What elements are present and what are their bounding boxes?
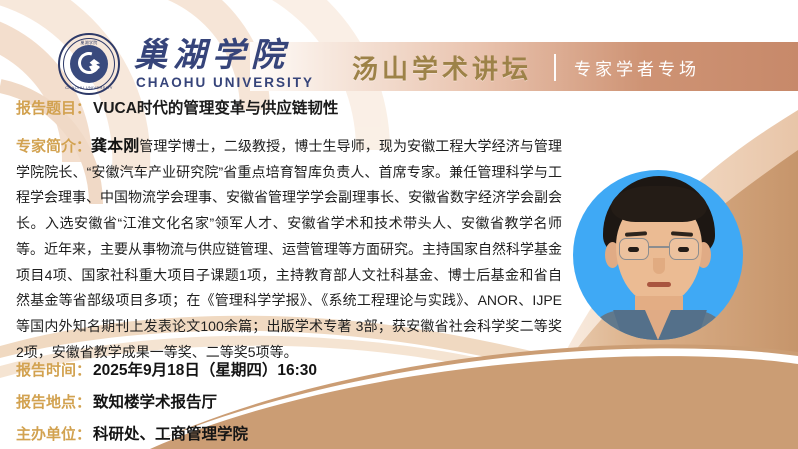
speaker-bio-block: 专家简介： 龚本刚管理学博士，二级教授，博士生导师，现为安徽工程大学经济与管理学… (16, 134, 562, 365)
report-place-row: 报告地点： 致知楼学术报告厅 (16, 390, 616, 412)
poster-content: 报告题目： VUCA时代的管理变革与供应链韧性 专家简介： 龚本刚管理学博士，二… (0, 0, 798, 449)
report-time-value: 2025年9月18日（星期四）16:30 (93, 358, 317, 380)
report-title-row: 报告题目： VUCA时代的管理变革与供应链韧性 (16, 96, 338, 118)
organizer-label: 主办单位： (16, 423, 91, 444)
speaker-name: 龚本刚 (91, 138, 139, 155)
speaker-bio-text: 管理学博士，二级教授，博士生导师，现为安徽工程大学经济与管理学院院长、“安徽汽车… (16, 138, 562, 360)
report-title-value: VUCA时代的管理变革与供应链韧性 (93, 96, 338, 118)
report-title-label: 报告题目： (16, 97, 91, 118)
poster-root: 巢湖学院 CHAOHU UNIVERSITY 巢湖学院 CHAOHU UNIVE… (0, 0, 798, 449)
report-time-row: 报告时间： 2025年9月18日（星期四）16:30 (16, 358, 616, 380)
organizer-row: 主办单位： 科研处、工商管理学院 (16, 422, 616, 444)
speaker-bio-label: 专家简介： (16, 134, 91, 160)
report-place-label: 报告地点： (16, 391, 91, 412)
report-place-value: 致知楼学术报告厅 (93, 390, 217, 412)
report-time-label: 报告时间： (16, 359, 91, 380)
organizer-value: 科研处、工商管理学院 (93, 422, 248, 444)
